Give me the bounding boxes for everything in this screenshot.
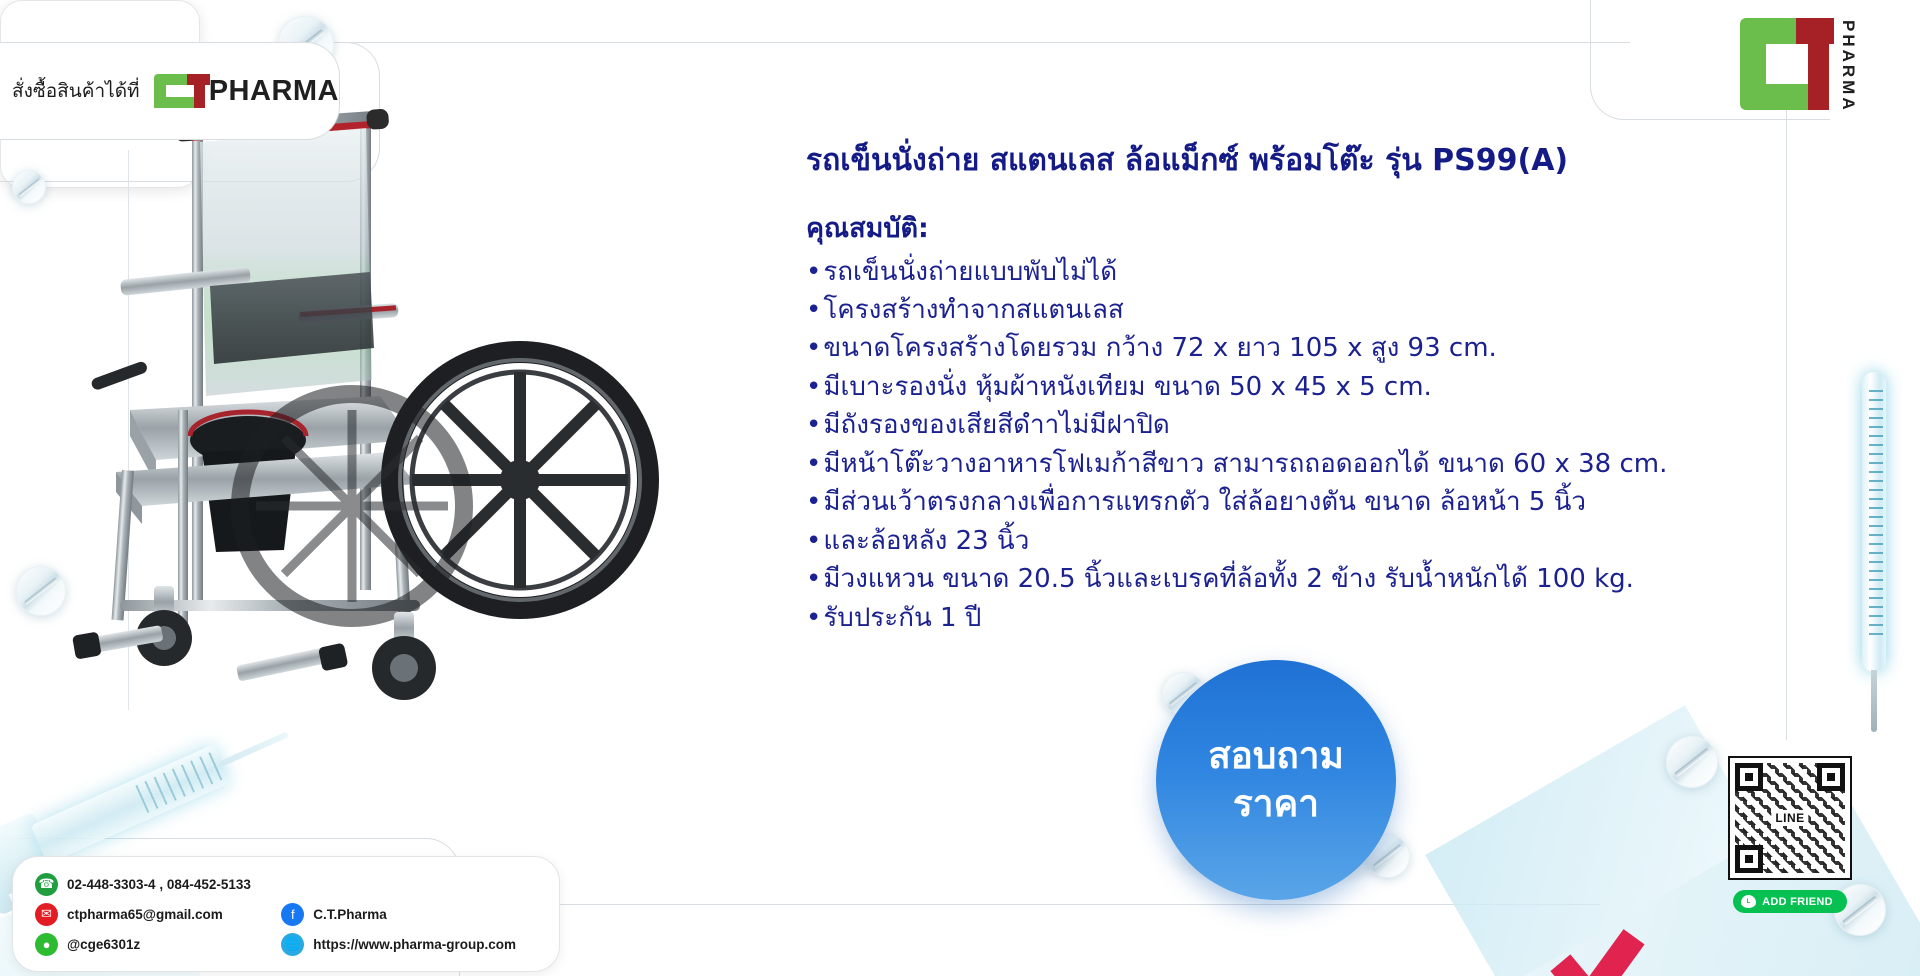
list-item: มีเบาะรองนั่ง หุ้มผ้าหนังเทียม ขนาด 50 x… [806,368,1866,406]
spec-list: รถเข็นนั่งถ่ายแบบพับไม่ได้ โครงสร้างทำจา… [806,253,1866,638]
product-photo [60,80,700,700]
list-item: มีส่วนเว้าตรงกลางเพื่อการแทรกตัว ใส่ล้อย… [806,483,1866,521]
list-item: โครงสร้างทำจากสแตนเลส [806,291,1866,329]
email-text: ctpharma65@gmail.com [67,907,223,922]
spec-heading: คุณสมบัติ: [806,206,1866,249]
line-icon: L [1741,895,1756,908]
list-item: รับประกัน 1 ปี [806,599,1866,637]
qr-code[interactable]: LINE [1728,756,1852,880]
brand-wordmark-vertical: PHARMA [1840,20,1857,113]
list-item: มีวงแหวน ขนาด 20.5 นิ้วและเบรคที่ล้อทั้ง… [806,560,1866,598]
contact-row: ✉ ctpharma65@gmail.com f C.T.Pharma [35,899,539,929]
contact-facebook[interactable]: f C.T.Pharma [281,903,539,926]
mail-icon: ✉ [35,903,58,926]
globe-icon: 🌐 [281,933,304,956]
add-friend-button[interactable]: L ADD FRIEND [1733,890,1847,913]
facebook-text: C.T.Pharma [313,907,387,922]
contact-phone[interactable]: ☎ 02-448-3303-4 , 084-452-5133 [35,873,267,896]
qr-finder-icon [1817,763,1845,791]
line-icon: ● [35,933,58,956]
brand-tab: สั่งซื้อสินค้าได้ที่ PHARMA [0,42,340,140]
qr-finder-icon [1735,845,1763,873]
contact-website[interactable]: 🌐 https://www.pharma-group.com [281,933,539,956]
corner-logo: PHARMA [1740,18,1857,113]
contact-line[interactable]: ● @cge6301z [35,933,263,956]
ct-pharma-logo-icon [1740,18,1834,110]
add-friend-label: ADD FRIEND [1762,896,1833,908]
qr-finder-icon [1735,763,1763,791]
list-item: มีถังรองของเสียสีดำาไม่มีฝาปิด [806,406,1866,444]
qr-center-label: LINE [1771,810,1808,826]
contact-row: ☎ 02-448-3303-4 , 084-452-5133 [35,869,539,899]
line-qr-card[interactable]: LINE L ADD FRIEND [1690,742,1890,930]
list-item: และล้อหลัง 23 นิ้ว [806,522,1866,560]
page-title: รถเข็นนั่งถ่าย สแตนเลส ล้อแม็กซ์ พร้อมโต… [806,142,1866,180]
contact-row: ● @cge6301z 🌐 https://www.pharma-group.c… [35,929,539,959]
list-item: รถเข็นนั่งถ่ายแบบพับไม่ได้ [806,253,1866,291]
cta-circle[interactable]: สอบถาม ราคา [1156,660,1396,900]
phone-icon: ☎ [35,873,58,896]
ct-pharma-logo-icon [154,74,197,108]
cta-line-1: สอบถาม [1208,732,1344,780]
promo-poster: สั่งซื้อสินค้าได้ที่ PHARMA PHARMA [0,0,1920,976]
brand-wordmark: PHARMA [209,75,339,108]
pill-icon [16,566,66,616]
pill-icon [12,170,46,204]
website-text: https://www.pharma-group.com [313,937,516,952]
list-item: มีหน้าโต๊ะวางอาหารโฟเมก้าสีขาว สามารถถอด… [806,445,1866,483]
checkmark-icon [1560,922,1680,976]
list-item: ขนาดโครงสร้างโดยรวม กว้าง 72 x ยาว 105 x… [806,329,1866,367]
contact-card: ☎ 02-448-3303-4 , 084-452-5133 ✉ ctpharm… [12,856,560,972]
cta-line-2: ราคา [1233,780,1319,828]
facebook-icon: f [281,903,304,926]
contact-email[interactable]: ✉ ctpharma65@gmail.com [35,903,263,926]
frame-top-rule [330,42,1630,43]
frame-bottom-rule [420,904,1600,905]
product-copy: รถเข็นนั่งถ่าย สแตนเลส ล้อแม็กซ์ พร้อมโต… [806,142,1866,637]
phone-text: 02-448-3303-4 , 084-452-5133 [67,877,251,892]
ask-price-cta[interactable]: สอบถาม ราคา [1156,660,1416,910]
line-text: @cge6301z [67,937,140,952]
order-prompt-label: สั่งซื้อสินค้าได้ที่ [12,76,140,106]
